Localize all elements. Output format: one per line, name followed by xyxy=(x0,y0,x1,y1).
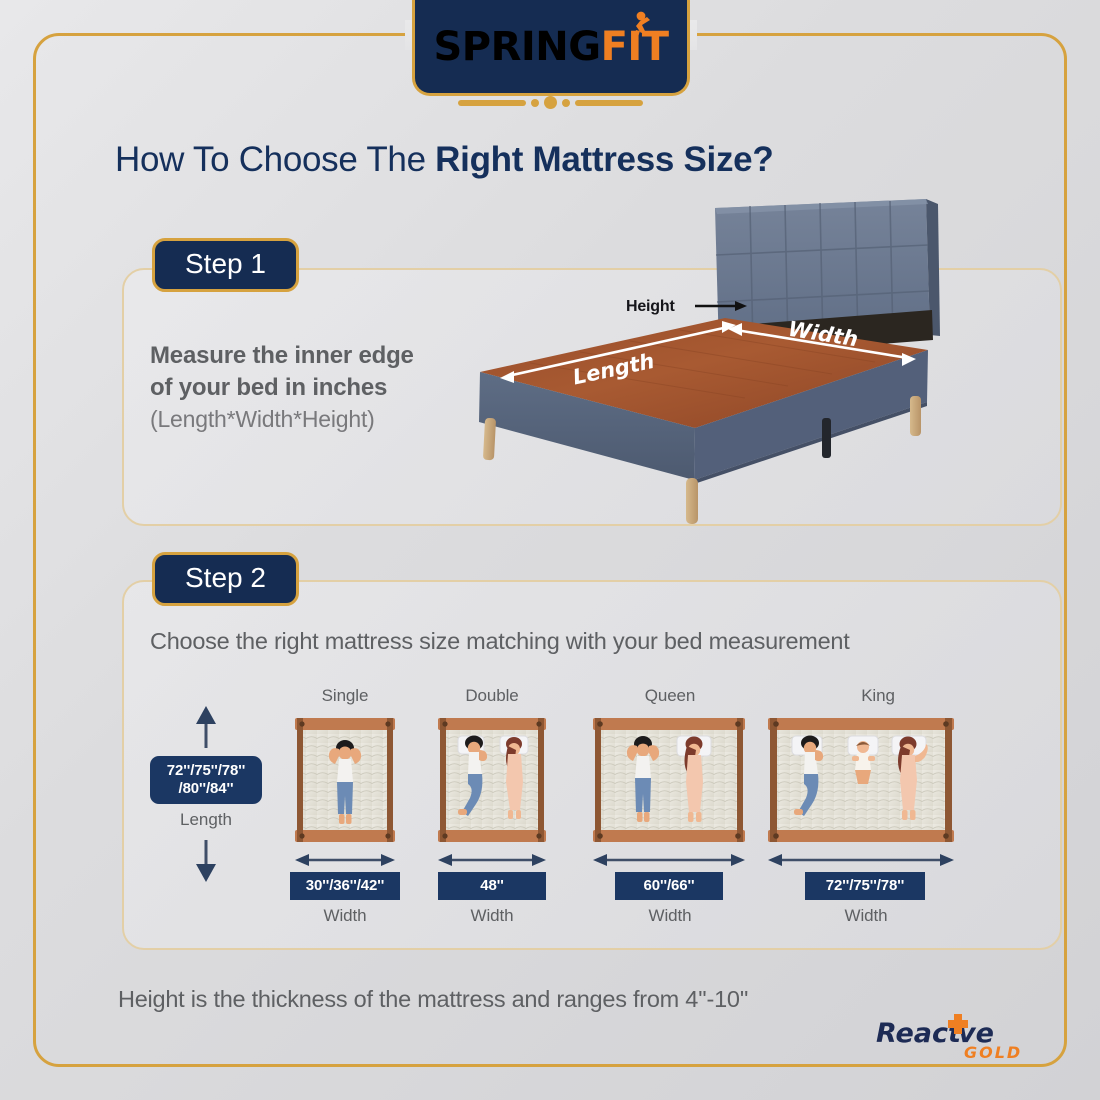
size-label-king: King xyxy=(788,686,968,706)
width-value-king: 72''/75''/78'' xyxy=(805,872,925,900)
width-value-queen: 60''/66'' xyxy=(615,872,723,900)
reactive-logo-sub: GOLD xyxy=(964,1043,1022,1062)
size-label-single: Single xyxy=(290,686,400,706)
width-value-double: 48'' xyxy=(438,872,546,900)
mattress-double[interactable] xyxy=(438,716,546,844)
step-1-body: Measure the inner edge of your bed in in… xyxy=(150,340,490,435)
mattress-king[interactable] xyxy=(768,716,954,844)
bed-height-label: Height xyxy=(626,298,675,316)
width-caption-king: Width xyxy=(788,906,944,926)
width-caption-single: Width xyxy=(290,906,400,926)
step-1-subtext: (Length*Width*Height) xyxy=(150,405,490,435)
brand-logo-secondary: FIT xyxy=(601,24,669,70)
height-pointer-arrow xyxy=(693,299,749,313)
width-value-single: 30''/36''/42'' xyxy=(290,872,400,900)
bed-graphic: Length Width xyxy=(470,190,980,530)
step-2-badge: Step 2 xyxy=(152,552,299,606)
page-title: How To Choose The Right Mattress Size? xyxy=(115,140,773,180)
brand-logo: SPRING FIT xyxy=(412,0,690,96)
page-title-lead: How To Choose The xyxy=(115,140,435,179)
page-title-emphasis: Right Mattress Size? xyxy=(435,140,773,179)
brand-logo-primary: SPRING xyxy=(433,24,600,70)
mattress-queen[interactable] xyxy=(593,716,745,844)
footer-note: Height is the thickness of the mattress … xyxy=(118,986,748,1013)
width-arrow-queen-icon xyxy=(593,852,745,868)
width-arrow-king-icon xyxy=(768,852,954,868)
brand-logo-text: SPRING FIT xyxy=(433,24,668,70)
running-figure-icon xyxy=(627,11,653,45)
mattress-size-row: Single xyxy=(150,690,970,940)
width-caption-queen: Width xyxy=(595,906,745,926)
bed-illustration: Length Width xyxy=(470,190,980,530)
size-label-queen: Queen xyxy=(595,686,745,706)
step-1-badge: Step 1 xyxy=(152,238,299,292)
width-arrow-single-icon xyxy=(295,852,395,868)
width-arrow-double-icon xyxy=(438,852,546,868)
step-1-instruction: Measure the inner edge of your bed in in… xyxy=(150,340,490,403)
logo-divider-dots xyxy=(0,96,1100,109)
mattress-single[interactable] xyxy=(295,716,395,844)
size-label-double: Double xyxy=(435,686,549,706)
reactive-gold-logo: React ve GOLD xyxy=(876,1012,1042,1064)
width-caption-double: Width xyxy=(438,906,546,926)
step-2-instruction: Choose the right mattress size matching … xyxy=(150,626,880,658)
